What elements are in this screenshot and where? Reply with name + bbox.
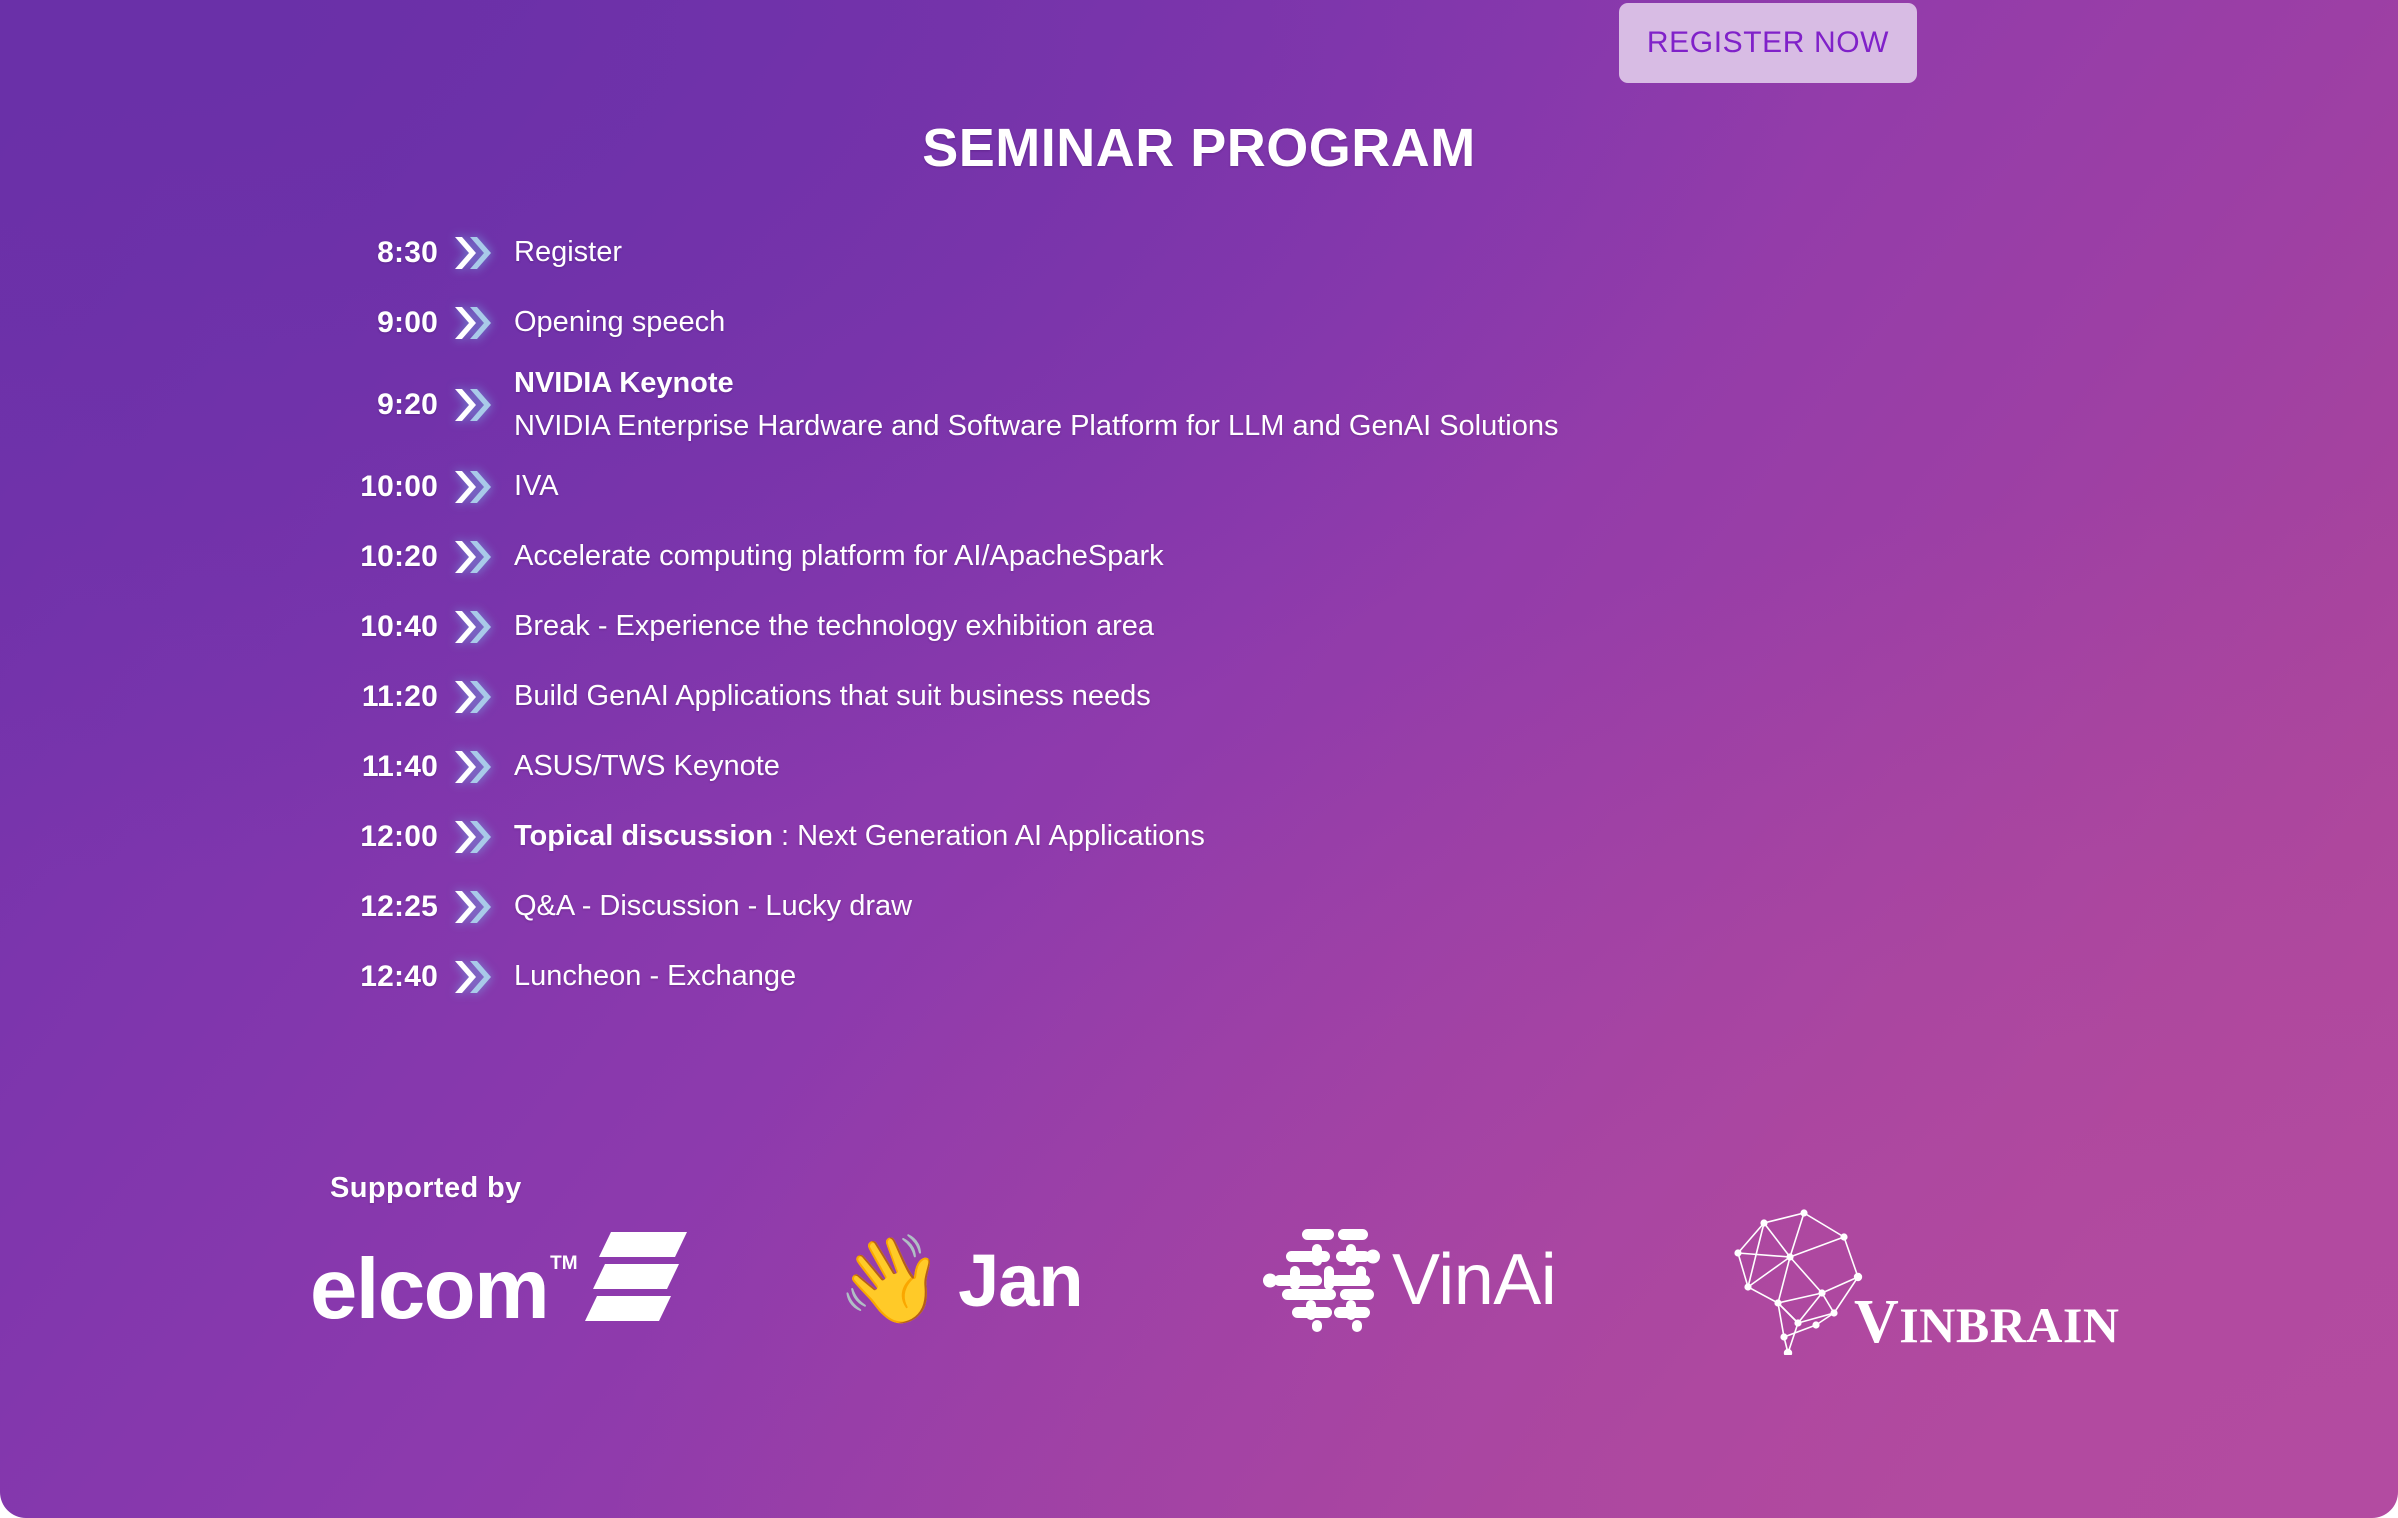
vinbrain-wordmark-cap: V xyxy=(1854,1288,1899,1356)
vinbrain-wordmark: VINBRAIN xyxy=(1854,1287,2119,1358)
agenda-row: 9:20 NVIDIA Keynote NVIDIA Enterprise Ha… xyxy=(330,358,2130,452)
double-chevron-right-icon xyxy=(438,303,514,343)
agenda-row: 8:30 Register xyxy=(330,218,2130,288)
agenda-time: 10:00 xyxy=(330,470,438,504)
agenda-time: 9:00 xyxy=(330,306,438,340)
agenda-text: Build GenAI Applications that suit busin… xyxy=(514,678,2130,715)
agenda-row: 12:40 Luncheon - Exchange xyxy=(330,942,2130,1012)
agenda-row: 9:00 Opening speech xyxy=(330,288,2130,358)
agenda-time: 12:00 xyxy=(330,820,438,854)
register-now-button[interactable]: REGISTER NOW xyxy=(1619,3,1917,83)
agenda-time: 9:20 xyxy=(330,388,438,422)
agenda-time: 12:40 xyxy=(330,960,438,994)
agenda-text-rest: : Next Generation AI Applications xyxy=(773,820,1205,852)
agenda-text: Luncheon - Exchange xyxy=(514,958,2130,995)
double-chevron-right-icon xyxy=(438,233,514,273)
sponsor-logo-jan: 👋 Jan xyxy=(837,1205,1083,1355)
agenda-row: 10:20 Accelerate computing platform for … xyxy=(330,522,2130,592)
waving-hand-icon: 👋 xyxy=(837,1237,944,1323)
agenda-text-title: NVIDIA Keynote xyxy=(514,365,2130,402)
double-chevron-right-icon xyxy=(438,957,514,997)
agenda-row: 10:40 Break - Experience the technology … xyxy=(330,592,2130,662)
agenda-text: IVA xyxy=(514,468,2130,505)
trademark-symbol: TM xyxy=(550,1253,577,1275)
agenda-time: 11:40 xyxy=(330,750,438,784)
agenda-time: 10:40 xyxy=(330,610,438,644)
agenda-row: 12:00 Topical discussion : Next Generati… xyxy=(330,802,2130,872)
agenda-time: 11:20 xyxy=(330,680,438,714)
agenda-row: 10:00 IVA xyxy=(330,452,2130,522)
sponsor-logo-vinbrain: VINBRAIN xyxy=(1726,1205,2066,1355)
agenda-text: NVIDIA Keynote NVIDIA Enterprise Hardwar… xyxy=(514,365,2130,444)
agenda-time: 10:20 xyxy=(330,540,438,574)
double-chevron-right-icon xyxy=(438,537,514,577)
agenda-text: Topical discussion : Next Generation AI … xyxy=(514,818,2130,855)
agenda-text: Accelerate computing platform for AI/Apa… xyxy=(514,538,2130,575)
sponsor-logo-elcom: elcom TM xyxy=(310,1205,688,1355)
sponsor-logo-strip: elcom TM 👋 Jan xyxy=(300,1205,2200,1355)
double-chevron-right-icon xyxy=(438,467,514,507)
double-chevron-right-icon xyxy=(438,607,514,647)
vinbrain-wordmark-rest: INBRAIN xyxy=(1899,1297,2119,1353)
jan-wordmark: Jan xyxy=(958,1238,1083,1323)
agenda-row: 11:20 Build GenAI Applications that suit… xyxy=(330,662,2130,732)
elcom-wordmark: elcom xyxy=(310,1250,548,1331)
agenda-text-subtitle: NVIDIA Enterprise Hardware and Software … xyxy=(514,408,2130,445)
agenda-text: Register xyxy=(514,234,2130,271)
supported-by-label: Supported by xyxy=(330,1172,522,1205)
double-chevron-right-icon xyxy=(438,677,514,717)
seminar-program-slide: REGISTER NOW SEMINAR PROGRAM 8:30 Regist… xyxy=(0,0,2398,1518)
agenda-row: 11:40 ASUS/TWS Keynote xyxy=(330,732,2130,802)
double-chevron-right-icon xyxy=(438,385,514,425)
agenda-text: Break - Experience the technology exhibi… xyxy=(514,608,2130,645)
agenda-text: Q&A - Discussion - Lucky draw xyxy=(514,888,2130,925)
agenda-text-bold-prefix: Topical discussion xyxy=(514,820,773,852)
agenda-time: 8:30 xyxy=(330,236,438,270)
double-chevron-right-icon xyxy=(438,887,514,927)
double-chevron-right-icon xyxy=(438,747,514,787)
agenda-time: 12:25 xyxy=(330,890,438,924)
double-chevron-right-icon xyxy=(438,817,514,857)
vinai-wordmark: VinAi xyxy=(1392,1239,1556,1321)
elcom-e-mark-icon xyxy=(583,1230,688,1327)
page-title: SEMINAR PROGRAM xyxy=(0,117,2398,179)
agenda-row: 12:25 Q&A - Discussion - Lucky draw xyxy=(330,872,2130,942)
agenda-text: ASUS/TWS Keynote xyxy=(514,748,2130,785)
vinai-network-mark-icon xyxy=(1260,1223,1380,1338)
agenda-text: Opening speech xyxy=(514,304,2130,341)
sponsor-logo-vinai: VinAi xyxy=(1260,1205,1556,1355)
agenda-list: 8:30 Register 9:00 Opening speech 9: xyxy=(330,218,2130,1012)
